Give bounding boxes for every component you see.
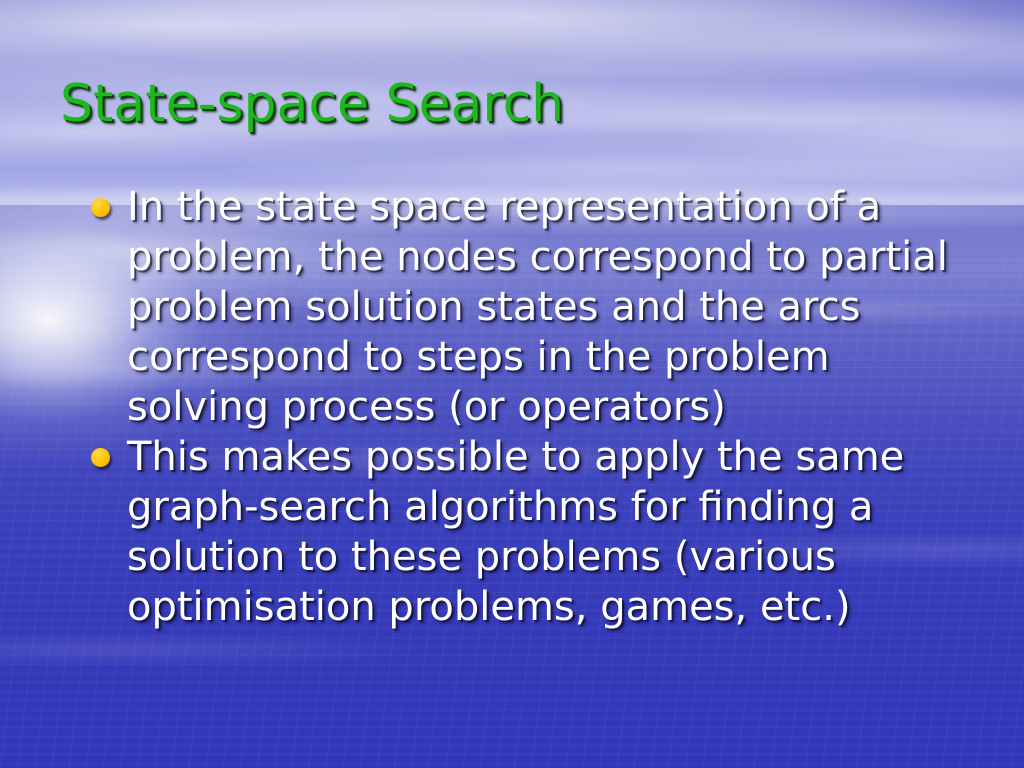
slide-content: State-space Search In the state space re… xyxy=(0,0,1024,768)
bullet-item-text: This makes possible to apply the same gr… xyxy=(127,434,904,630)
slide-title: State-space Search xyxy=(60,78,564,130)
bullet-list-item: This makes possible to apply the same gr… xyxy=(86,432,966,632)
presentation-slide: State-space Search In the state space re… xyxy=(0,0,1024,768)
round-bullet-icon xyxy=(91,448,110,467)
round-bullet-icon xyxy=(91,198,110,217)
slide-body: In the state space representation of a p… xyxy=(86,182,966,632)
bullet-item-text: In the state space representation of a p… xyxy=(127,184,948,430)
bullet-list-item: In the state space representation of a p… xyxy=(86,182,966,432)
